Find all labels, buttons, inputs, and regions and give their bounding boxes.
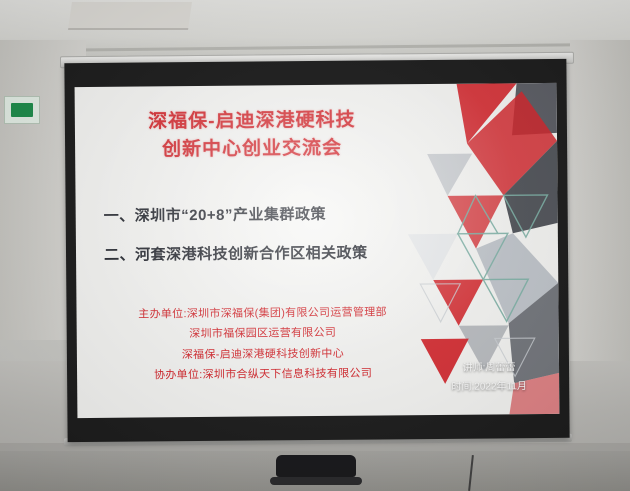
exit-sign [4,96,40,124]
exit-sign-glyph [11,103,33,117]
speaker-date: 时间:2022年11月 [429,377,549,397]
slide-title: 深福保-启迪深港硬科技 创新中心创业交流会 [117,106,387,163]
wall-right [570,40,630,370]
slide-bullet-1: 一、深圳市“20+8”产业集群政策 [104,202,434,226]
chair-backrest [276,455,356,477]
projection-screen: 深福保-启迪深港硬科技 创新中心创业交流会 一、深圳市“20+8”产业集群政策 … [64,59,569,442]
slide-title-line-1: 深福保-启迪深港硬科技 [117,106,387,136]
organizer-line-1: 主办单位:深圳市深福保(集团)有限公司运营管理部 [92,302,432,325]
slide-speaker-block: 讲师:周蕾蕾 时间:2022年11月 [429,358,549,397]
slide-organizer-block: 主办单位:深圳市深福保(集团)有限公司运营管理部 深圳市福保园区运营有限公司 深… [92,302,433,386]
ceiling-vent [68,2,192,30]
slide-title-line-2: 创新中心创业交流会 [117,134,387,164]
chair-seat [270,477,362,485]
organizer-line-4: 协办单位:深圳市合纵天下信息科技有限公司 [93,363,433,386]
slide-bullet-2: 二、河套深港科技创新合作区相关政策 [104,241,434,265]
slide-bullet-list: 一、深圳市“20+8”产业集群政策 二、河套深港科技创新合作区相关政策 [104,202,435,283]
speaker-name: 讲师:周蕾蕾 [429,358,549,378]
office-chair [268,455,364,491]
photo-scene: 深福保-启迪深港硬科技 创新中心创业交流会 一、深圳市“20+8”产业集群政策 … [0,0,630,491]
presentation-slide: 深福保-启迪深港硬科技 创新中心创业交流会 一、深圳市“20+8”产业集群政策 … [75,83,560,418]
